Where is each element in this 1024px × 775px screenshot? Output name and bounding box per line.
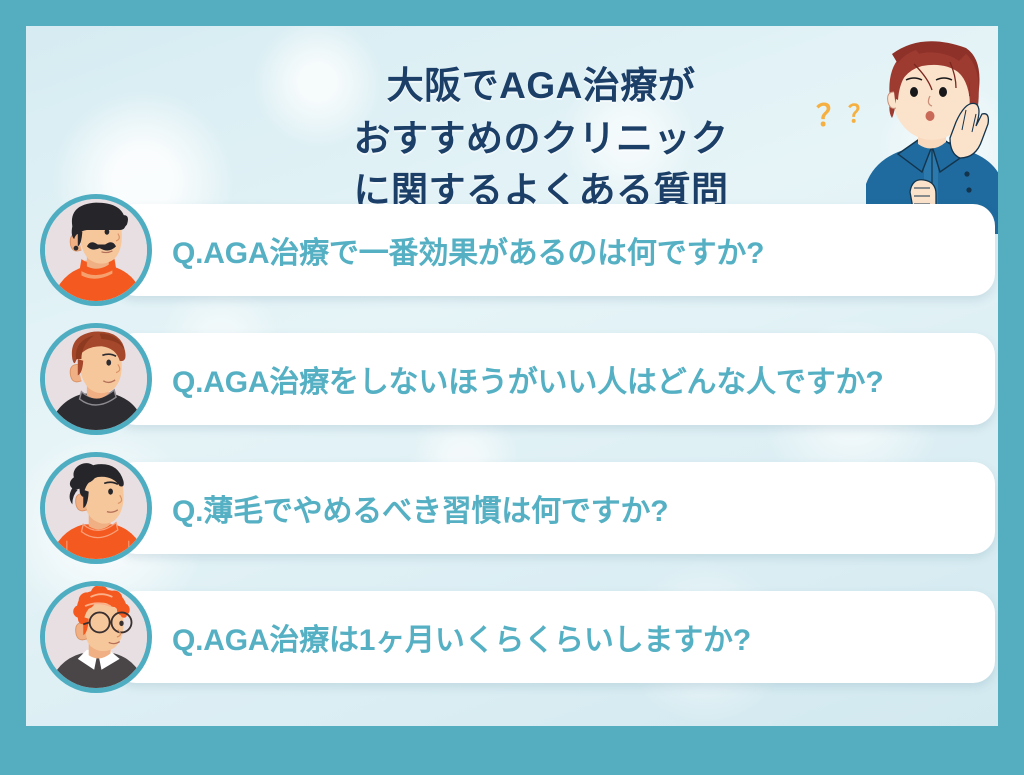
faq-row[interactable]: Q.AGA治療で一番効果があるのは何ですか? [26,194,998,306]
avatar-man-with-mustache [40,194,152,306]
faq-banner: 大阪でAGA治療が おすすめのクリニック に関するよくある質問 ？？ [0,0,1024,775]
faq-card[interactable]: Q.AGA治療をしないほうがいい人はどんな人ですか? [114,333,995,425]
page-title-line-2: おすすめのクリニック [281,113,801,166]
faq-row[interactable]: Q.薄毛でやめるべき習慣は何ですか? [26,452,998,564]
faq-row[interactable]: Q.AGA治療をしないほうがいい人はどんな人ですか? [26,323,998,435]
faq-card[interactable]: Q.薄毛でやめるべき習慣は何ですか? [114,462,995,554]
content-panel: 大阪でAGA治療が おすすめのクリニック に関するよくある質問 ？？ [26,26,998,726]
faq-card[interactable]: Q.AGA治療で一番効果があるのは何ですか? [114,204,995,296]
faq-question-text: Q.AGA治療をしないほうがいい人はどんな人ですか? [172,357,883,401]
faq-question-text: Q.AGA治療は1ヶ月いくらくらいしますか? [172,615,751,659]
avatar-man-with-glasses [40,581,152,693]
avatar-young-man-dark-shirt [40,323,152,435]
page-title-line-1: 大阪でAGA治療が [281,60,801,113]
faq-row[interactable]: Q.AGA治療は1ヶ月いくらくらいしますか? [26,581,998,693]
avatar-person-with-bun [40,452,152,564]
faq-card[interactable]: Q.AGA治療は1ヶ月いくらくらいしますか? [114,591,995,683]
faq-question-text: Q.薄毛でやめるべき習慣は何ですか? [172,486,668,530]
faq-question-text: Q.AGA治療で一番効果があるのは何ですか? [172,228,764,272]
